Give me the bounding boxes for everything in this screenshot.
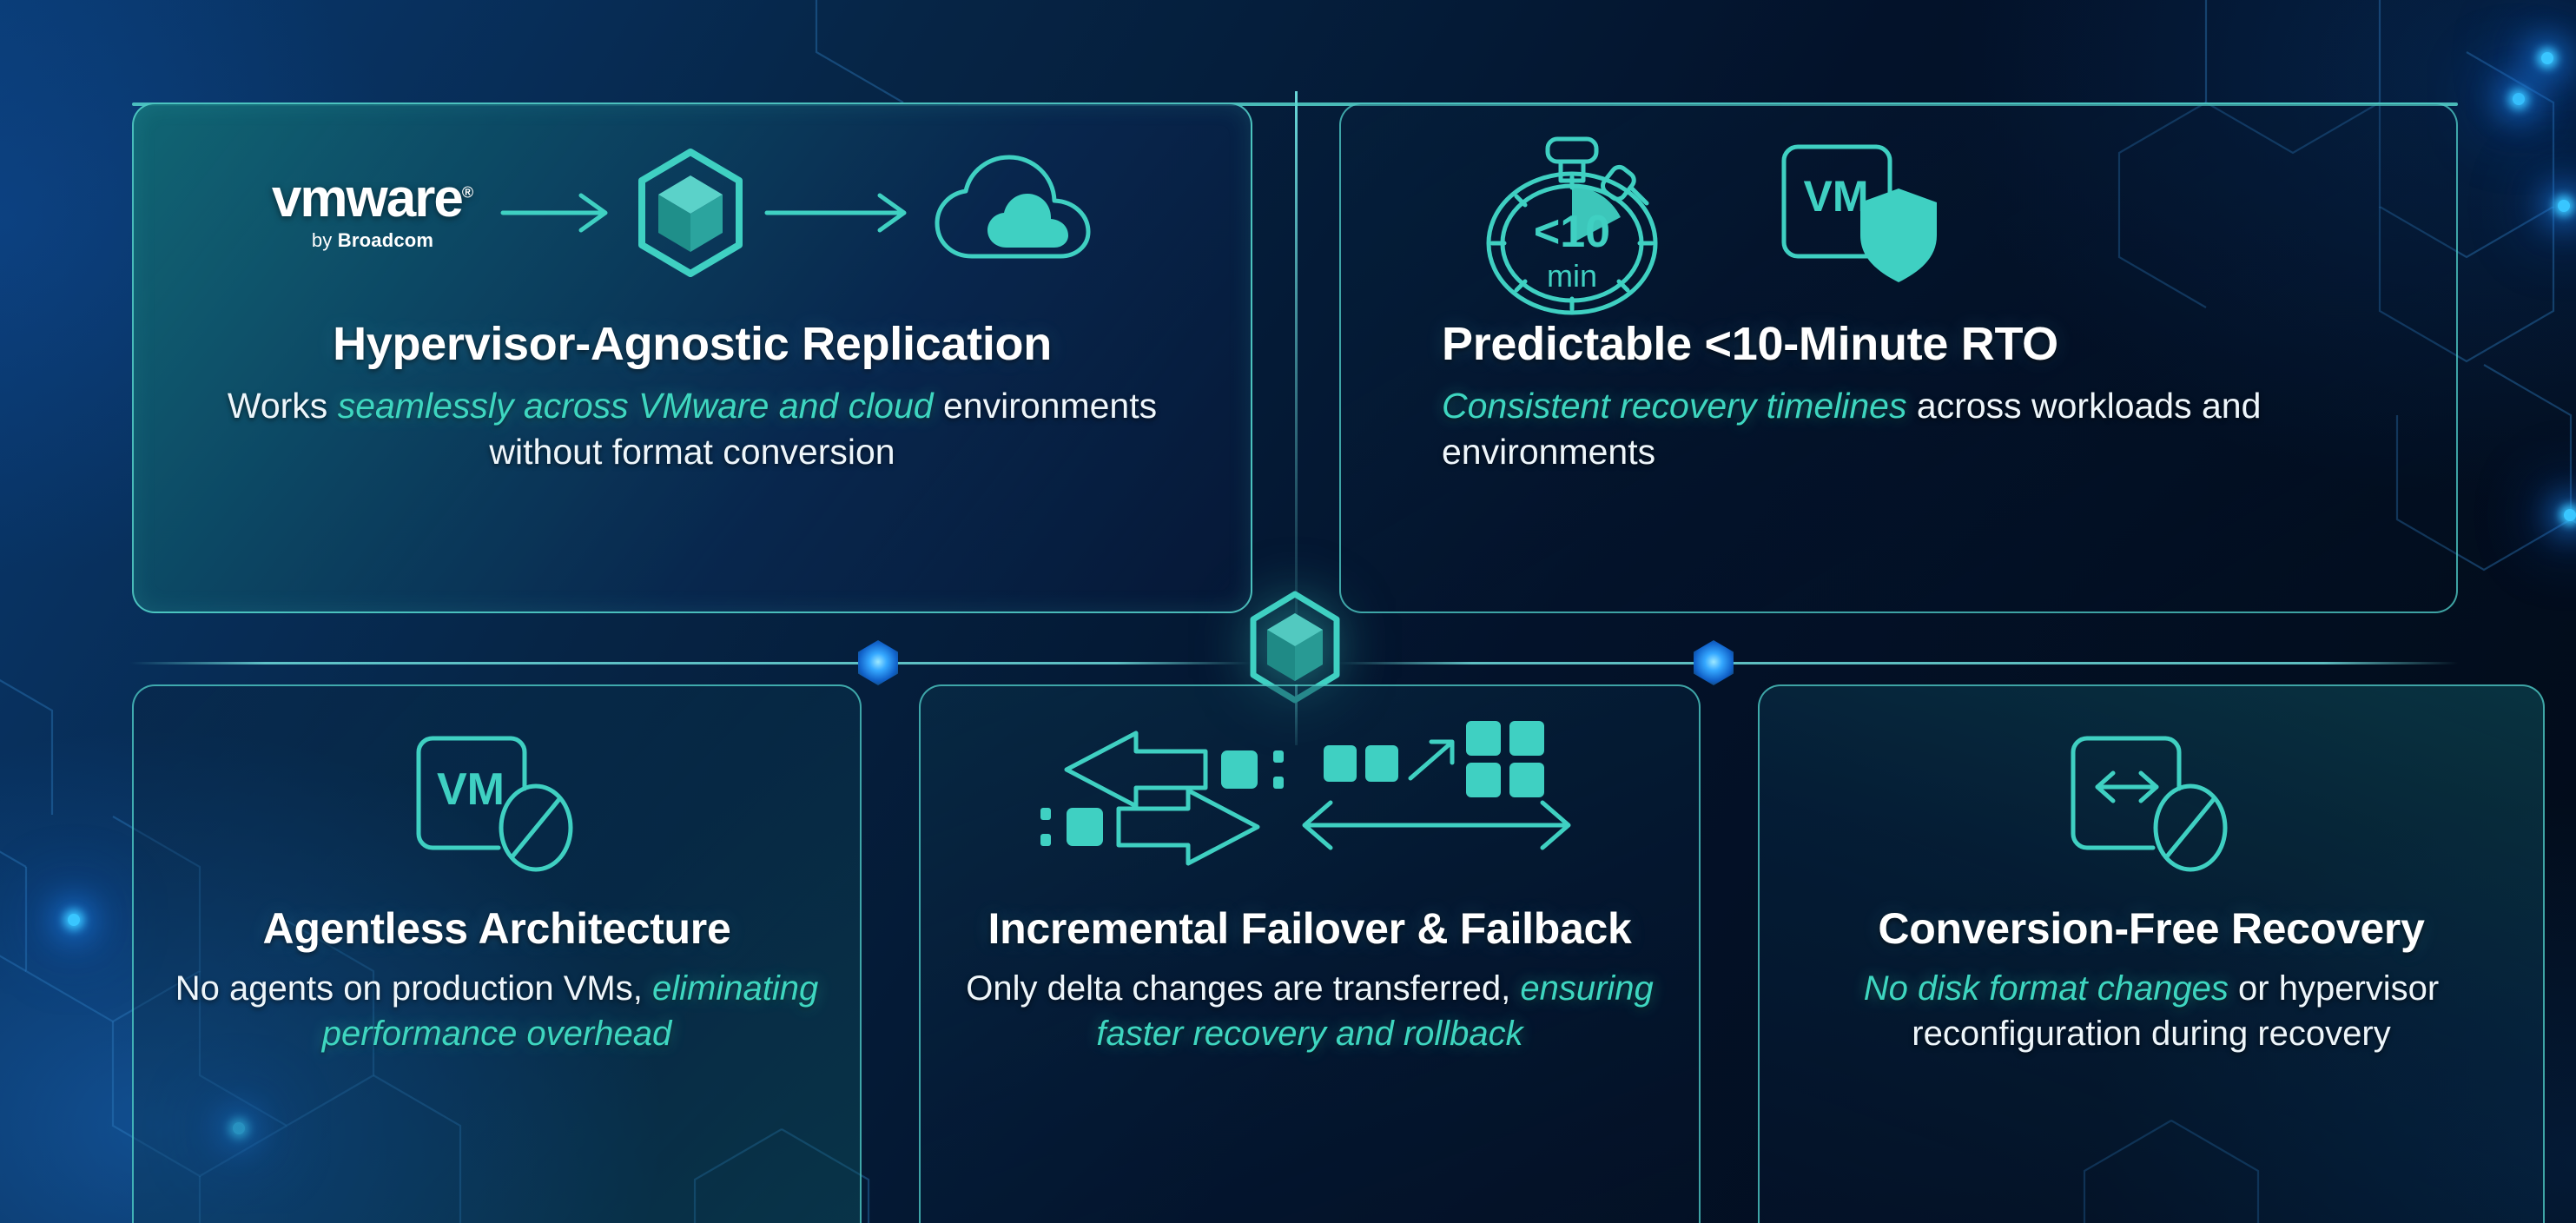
card-1-icons: vmware® by Broadcom [134, 148, 1251, 278]
desc-plain-pre: No agents on production VMs, [175, 969, 652, 1008]
desc-plain-pre: Works [228, 386, 338, 426]
vm-label: VM [437, 764, 505, 815]
vmware-byline: by Broadcom [312, 229, 433, 252]
vmware-wordmark: vmware® [272, 174, 473, 225]
connector-vertical-top [1295, 91, 1298, 647]
card-2-description: Consistent recovery timelines across wor… [1442, 383, 2456, 476]
connector-node-left [858, 640, 898, 685]
card-2-icons: <10 min VM [1341, 134, 2456, 316]
card-conversion-free-recovery[interactable]: Conversion-Free Recovery No disk format … [1758, 684, 2545, 1223]
card-3-text: Agentless Architecture No agents on prod… [134, 903, 860, 1056]
desc-emphasis: Consistent recovery timelines [1442, 386, 1906, 426]
card-3-description: No agents on production VMs, eliminating… [134, 966, 860, 1056]
card-5-text: Conversion-Free Recovery No disk format … [1760, 903, 2543, 1056]
vm-label: VM [1804, 172, 1869, 221]
connector-horizontal-left [130, 662, 1251, 664]
infographic-stage: vmware® by Broadcom [0, 0, 2576, 1223]
stopwatch-icon: <10 min [1445, 134, 1706, 316]
card-5-title: Conversion-Free Recovery [1760, 903, 2543, 954]
card-3-title: Agentless Architecture [134, 903, 860, 954]
card-predictable-rto[interactable]: <10 min VM Predictable <10-Minute RTO Co… [1339, 102, 2458, 613]
connector-node-right [1694, 640, 1734, 685]
card-1-description: Works seamlessly across VMware and cloud… [134, 383, 1251, 476]
card-5-description: No disk format changes or hypervisor rec… [1760, 966, 2543, 1056]
cloud-icon [930, 152, 1113, 274]
stopwatch-value: <10 [1534, 207, 1610, 257]
card-2-title: Predictable <10-Minute RTO [1442, 317, 2456, 371]
desc-emphasis: No disk format changes [1864, 969, 2229, 1008]
connector-horizontal-right [1338, 662, 2458, 664]
card-4-icons [921, 716, 1699, 881]
card-hypervisor[interactable]: vmware® by Broadcom [132, 102, 1252, 613]
card-1-text: Hypervisor-Agnostic Replication Works se… [134, 317, 1251, 476]
card-4-text: Incremental Failover & Failback Only del… [921, 903, 1699, 1056]
vm-shield-icon: VM [1767, 133, 1949, 298]
vmware-logo: vmware® by Broadcom [272, 174, 473, 253]
card-agentless-architecture[interactable]: VM Agentless Architecture No agents on p… [132, 684, 862, 1223]
card-incremental-failover-failback[interactable]: Incremental Failover & Failback Only del… [919, 684, 1701, 1223]
card-4-title: Incremental Failover & Failback [921, 903, 1699, 954]
card-5-icons [1760, 726, 2543, 883]
stopwatch-unit: min [1547, 258, 1597, 294]
card-3-icons: VM [134, 726, 860, 883]
registered-mark: ® [462, 183, 473, 201]
card-2-text: Predictable <10-Minute RTO Consistent re… [1341, 317, 2456, 476]
card-4-description: Only delta changes are transferred, ensu… [921, 966, 1699, 1056]
arrow-right-icon [762, 187, 918, 239]
desc-emphasis: seamlessly across VMware and cloud [338, 386, 934, 426]
arrow-right-icon [498, 187, 619, 239]
card-1-title: Hypervisor-Agnostic Replication [134, 317, 1251, 371]
hexagon-cube-icon [633, 147, 748, 279]
vm-disabled-icon: VM [401, 726, 592, 883]
failover-failback-icon [1032, 716, 1588, 881]
disk-format-disabled-icon [2056, 726, 2247, 883]
desc-plain-pre: Only delta changes are transferred, [966, 969, 1520, 1008]
